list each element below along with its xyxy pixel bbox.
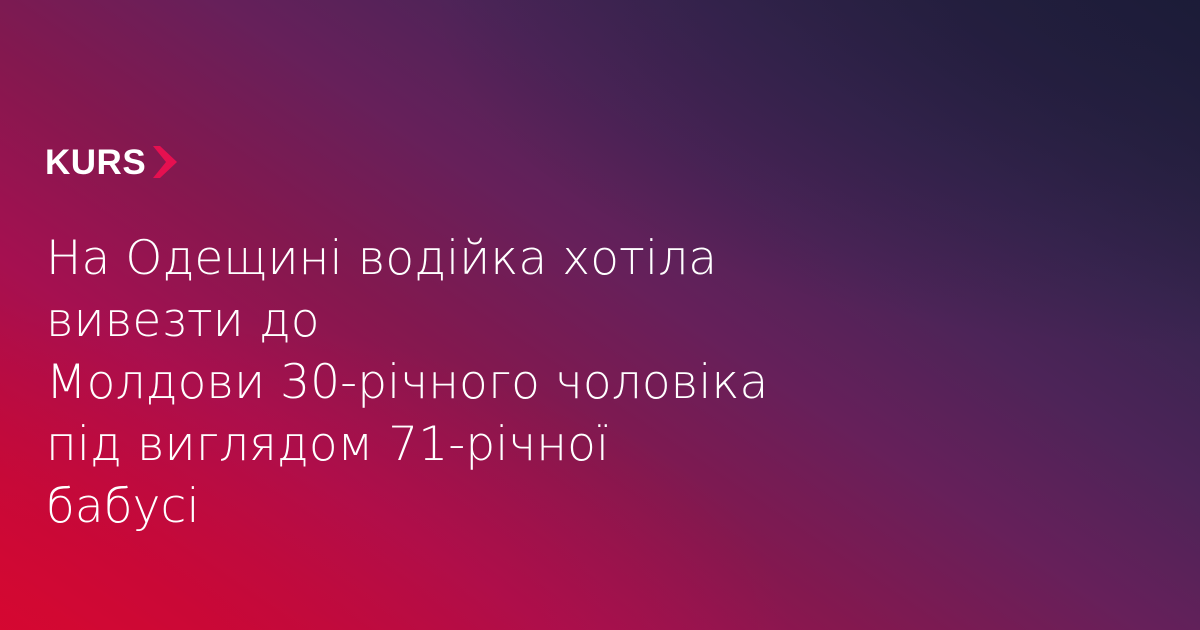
logo-wordmark: KURS bbox=[45, 145, 146, 180]
chevron-right-icon bbox=[150, 146, 180, 178]
headline-line: Молдови 30-річного чоловіка bbox=[46, 352, 806, 414]
headline: На Одещині водійка хотіла вивезти до Мол… bbox=[46, 228, 806, 538]
headline-line: бабусі bbox=[46, 476, 806, 538]
headline-line: вивезти до bbox=[46, 290, 806, 352]
share-card: KURS На Одещині водійка хотіла вивезти д… bbox=[0, 0, 1200, 630]
headline-line: під виглядом 71-річної bbox=[46, 414, 806, 476]
card-content: KURS На Одещині водійка хотіла вивезти д… bbox=[0, 0, 1200, 630]
headline-line: На Одещині водійка хотіла bbox=[46, 228, 806, 290]
site-logo[interactable]: KURS bbox=[45, 143, 180, 181]
